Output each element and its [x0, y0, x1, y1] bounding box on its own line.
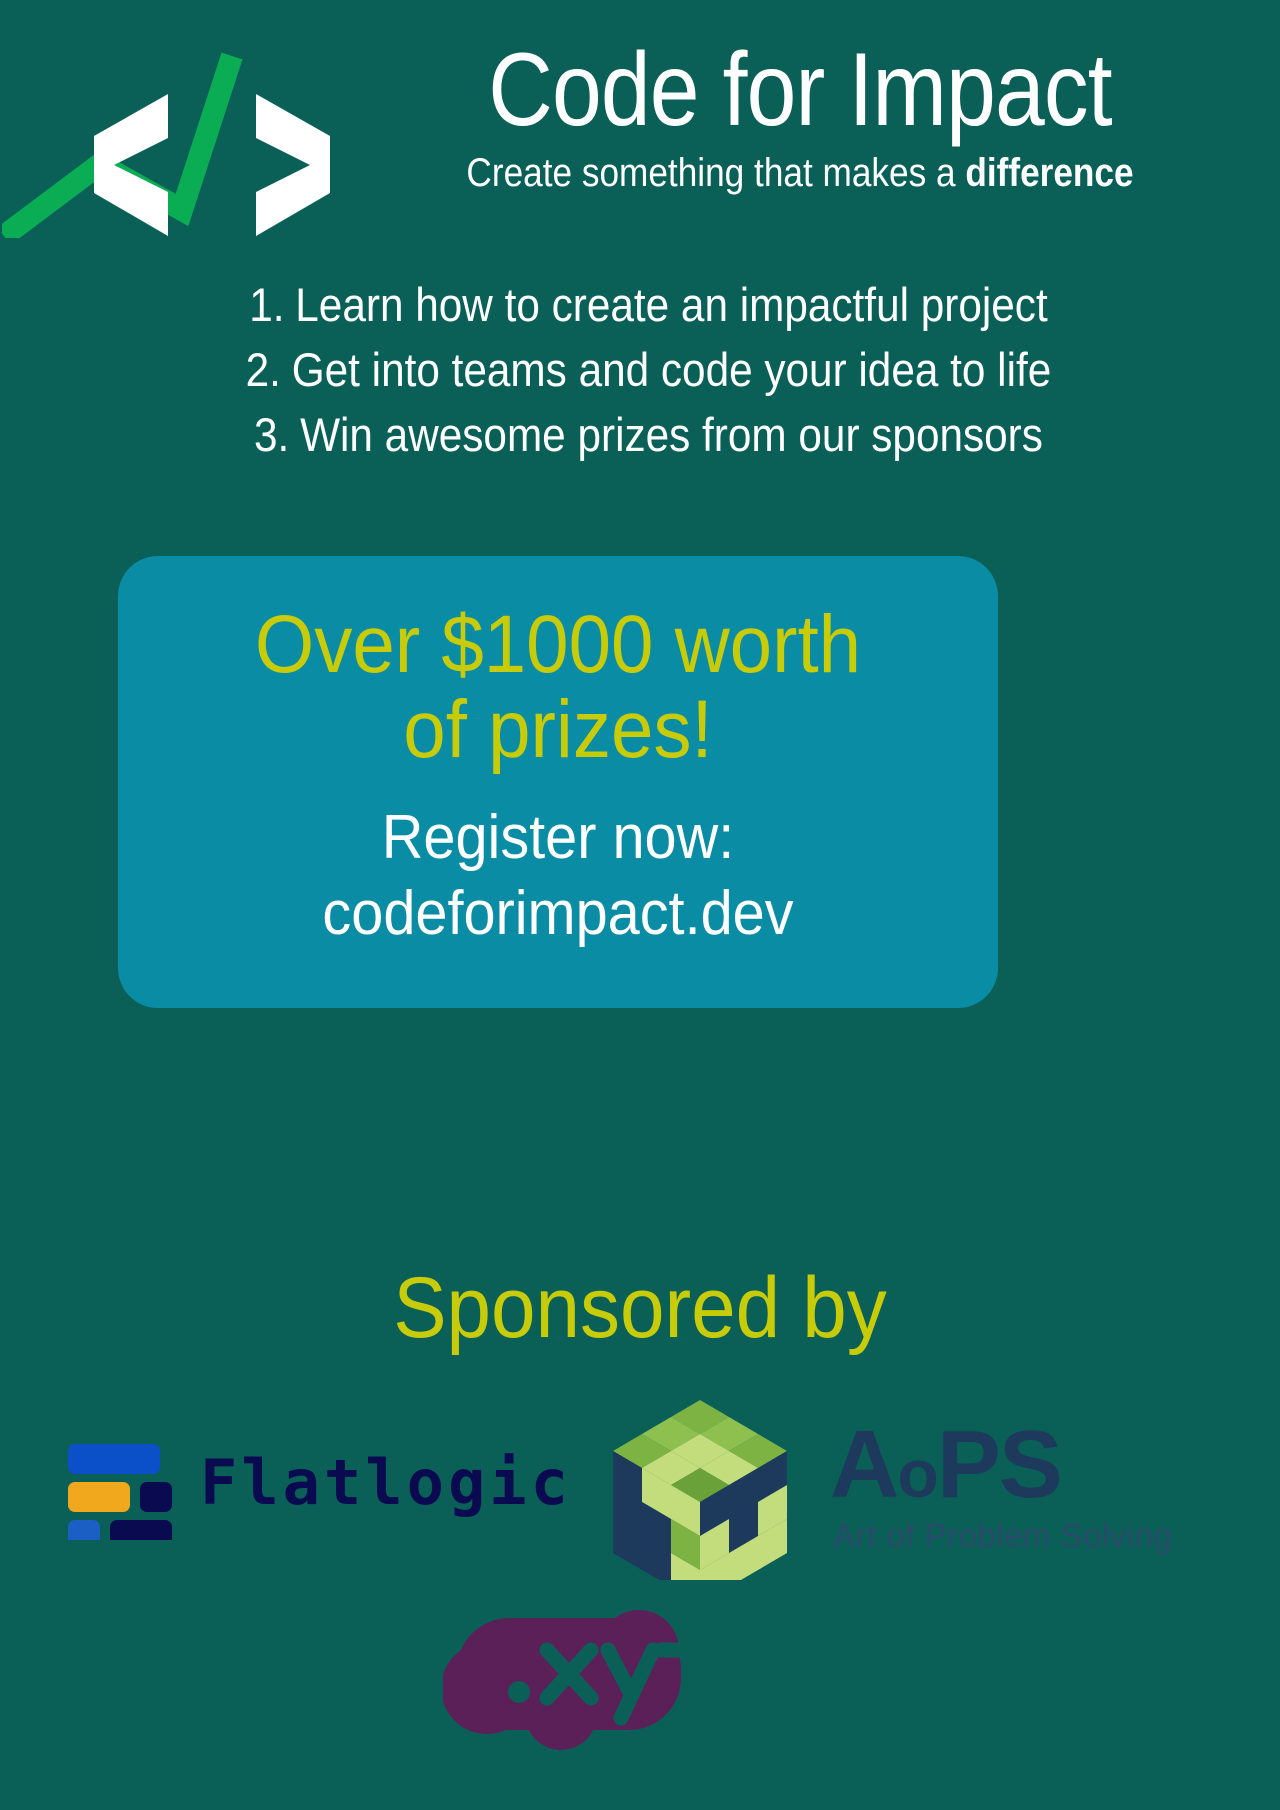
register-url[interactable]: codeforimpact.dev	[149, 876, 967, 952]
sponsor-logo-row: Flatlogic	[0, 1390, 1280, 1600]
tagline: Create something that makes a difference	[386, 152, 1213, 194]
register-label: Register now:	[149, 800, 967, 876]
xyz-blob-icon	[443, 1610, 693, 1750]
flatlogic-wordmark: Flatlogic	[200, 1436, 572, 1530]
prize-headline-line-2: of prizes!	[149, 687, 967, 772]
tagline-bold: difference	[965, 151, 1133, 195]
logo-svg	[2, 38, 342, 238]
step-number: 3.	[237, 402, 289, 467]
prize-headline: Over $1000 worth of prizes!	[149, 602, 967, 772]
sponsored-by-heading: Sponsored by	[45, 1258, 1235, 1358]
aops-wordmark-o: o	[897, 1436, 937, 1512]
tagline-prefix: Create something that makes a	[466, 151, 965, 195]
xyz-dot	[508, 1681, 530, 1703]
list-item: 2.Get into teams and code your idea to l…	[64, 337, 1216, 402]
list-item: 1.Learn how to create an impactful proje…	[64, 272, 1216, 337]
sponsor-logo-aops[interactable]: AoPS Art of Problem Solving	[590, 1390, 1060, 1590]
step-number: 2.	[229, 337, 281, 402]
page-title: Code for Impact	[396, 38, 1204, 142]
aops-wordmark-ps: PS	[937, 1411, 1061, 1518]
aops-wordmark: AoPS	[830, 1410, 1061, 1529]
register-block: Register now: codeforimpact.dev	[149, 800, 967, 952]
step-text: Learn how to create an impactful project	[295, 278, 1047, 331]
aops-tagline: Art of Problem Solving	[833, 1516, 1172, 1556]
sponsor-logo-xyz[interactable]	[443, 1610, 693, 1750]
poster-header: Code for Impact Create something that ma…	[0, 0, 1280, 250]
aops-isometric-cube-icon	[590, 1390, 810, 1580]
list-item: 3.Win awesome prizes from our sponsors	[64, 402, 1216, 467]
header-text-block: Code for Impact Create something that ma…	[330, 38, 1270, 194]
code-brackets-growth-line-logo	[2, 38, 342, 238]
poster-canvas: Code for Impact Create something that ma…	[0, 0, 1280, 1810]
prize-headline-line-1: Over $1000 worth	[149, 602, 967, 687]
step-text: Win awesome prizes from our sponsors	[300, 408, 1043, 461]
step-text: Get into teams and code your idea to lif…	[292, 343, 1052, 396]
steps-list: 1.Learn how to create an impactful proje…	[0, 272, 1280, 467]
sponsor-logo-flatlogic[interactable]: Flatlogic	[62, 1430, 512, 1540]
prize-callout-box: Over $1000 worth of prizes! Register now…	[118, 556, 998, 1008]
step-number: 1.	[232, 272, 284, 337]
aops-wordmark-a: A	[830, 1411, 897, 1518]
flatlogic-bars-icon	[62, 1430, 182, 1540]
